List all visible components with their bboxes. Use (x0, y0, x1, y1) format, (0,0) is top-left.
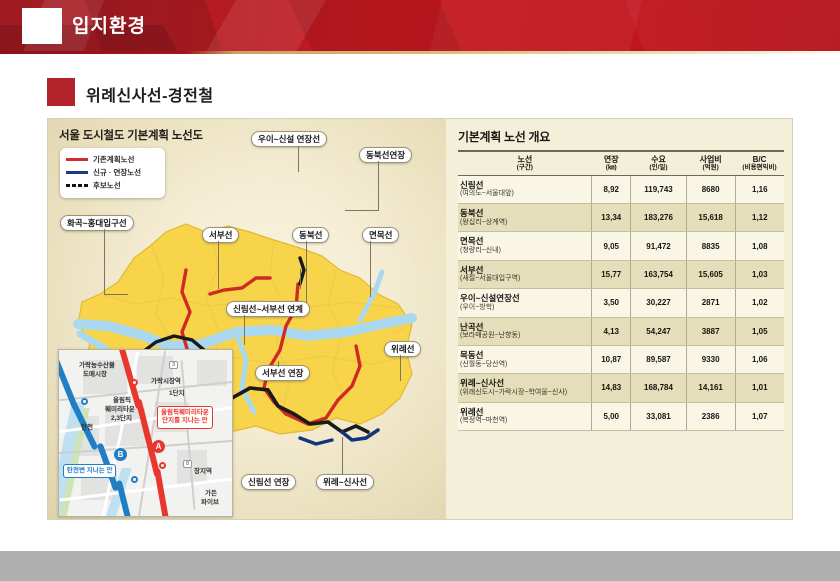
table-row: 동북선 (왕십리~상계역) 13,34 183,276 15,618 1,12 (458, 204, 784, 232)
routes-table-body: 신림선 (여의도~서울대앞) 8,92 119,743 8680 1,16 동북… (458, 175, 784, 430)
route-name: 난곡선 (460, 322, 589, 333)
map-callout-seobu-ext: 서부선 연장 (255, 365, 310, 381)
cell-demand: 54,247 (631, 317, 686, 345)
route-name: 동북선 (460, 208, 589, 219)
map-callout-sillim-seobu: 신림선~서부선 연계 (226, 301, 310, 317)
route-badge-3-icon: 3 (169, 361, 178, 369)
table-row: 위례~신사선 (위례신도시~가락시장~학여울~신사) 14,83 168,784… (458, 374, 784, 402)
cell-bc: 1,12 (735, 204, 784, 232)
red-square-icon (47, 78, 75, 106)
col-header-unit: (구간) (459, 164, 591, 171)
cell-demand: 91,472 (631, 232, 686, 260)
map-callout-dongbuk: 동북선 (292, 227, 329, 243)
leader-line (378, 161, 379, 211)
section-title: 위례신사선-경전철 (86, 82, 214, 106)
col-header-label: B/C (753, 155, 767, 164)
cell-length: 4,13 (592, 317, 631, 345)
inset-station-icon (81, 398, 88, 405)
cell-cost: 14,161 (686, 374, 735, 402)
leader-line (345, 210, 379, 211)
legend-swatch-icon (66, 158, 88, 161)
table-row: 서부선 (새절~서울대입구역) 15,77 163,754 15,605 1,0… (458, 260, 784, 288)
col-header-unit: (인/일) (632, 164, 685, 171)
banner-underline (0, 51, 840, 54)
route-name: 서부선 (460, 265, 589, 276)
route-section: (신월동~당산역) (460, 361, 589, 370)
footer-bar (0, 551, 840, 581)
route-section: (왕십리~상계역) (460, 219, 589, 228)
col-header-bc: B/C (비용편익비) (735, 151, 784, 175)
map-callout-hwagok: 화곡~홍대입구선 (60, 215, 134, 231)
cell-route-name: 면목선 (청량리~신내) (458, 232, 592, 260)
leader-line (298, 146, 299, 172)
leader-line (244, 315, 245, 345)
col-header-length: 연장 (㎞) (592, 151, 631, 175)
inset-station-icon (131, 379, 138, 386)
route-name: 목동선 (460, 350, 589, 361)
cell-length: 9,05 (592, 232, 631, 260)
route-section: (청량리~신내) (460, 247, 589, 256)
col-header-cost: 사업비 (억원) (686, 151, 735, 175)
inset-label-olympic3: 2,3단지 (111, 415, 132, 423)
inset-station-icon (159, 462, 166, 469)
route-name: 면목선 (460, 236, 589, 247)
table-header-row: 노선 (구간) 연장 (㎞) 수요 (인/일) 사업비 (458, 151, 784, 175)
leader-line (306, 241, 307, 307)
routes-table: 노선 (구간) 연장 (㎞) 수요 (인/일) 사업비 (458, 150, 784, 431)
cell-demand: 183,276 (631, 204, 686, 232)
cell-route-name: 위례~신사선 (위례신도시~가락시장~학여울~신사) (458, 374, 592, 402)
cell-demand: 33,081 (631, 402, 686, 430)
inset-label-danji1: 1단지 (169, 390, 185, 398)
route-name: 신림선 (460, 180, 589, 191)
cell-cost: 9330 (686, 345, 735, 373)
leader-line (104, 294, 128, 295)
cell-length: 8,92 (592, 175, 631, 203)
route-section: (보라매공원~난향동) (460, 332, 589, 341)
inset-callout-red: 올림픽훼미리타운 단지를 지나는 안 (157, 406, 213, 429)
map-callout-sillim-ext: 신림선 연장 (241, 474, 296, 490)
cell-length: 3,50 (592, 289, 631, 317)
route-name: 우이~신설연장선 (460, 293, 589, 304)
leader-line (400, 355, 401, 381)
cell-length: 13,34 (592, 204, 631, 232)
inset-label-tancheon: 탄천 (81, 424, 93, 432)
map-callout-wirye: 위례선 (384, 341, 421, 357)
leader-line (342, 437, 343, 475)
table-row: 목동선 (신월동~당산역) 10,87 89,587 9330 1,06 (458, 345, 784, 373)
inset-callout-blue: 탄천변 지나는 안 (63, 464, 116, 478)
route-badge-8-icon: 8 (183, 460, 192, 468)
inset-callout-red-line1: 올림픽훼미리타운 (161, 409, 209, 416)
leader-line (278, 361, 279, 367)
banner-facet (415, 0, 645, 53)
cell-cost: 3887 (686, 317, 735, 345)
inset-detail-map: A B 3 8 가락농수산물 도매시장 올림픽 훼미리타운 2,3단지 탄천 가… (58, 349, 233, 517)
cell-demand: 89,587 (631, 345, 686, 373)
cell-demand: 30,227 (631, 289, 686, 317)
route-name: 위례~신사선 (460, 378, 589, 389)
cell-route-name: 목동선 (신월동~당산역) (458, 345, 592, 373)
route-section: (새절~서울대입구역) (460, 275, 589, 284)
cell-bc: 1,07 (735, 402, 784, 430)
cell-route-name: 신림선 (여의도~서울대앞) (458, 175, 592, 203)
cell-cost: 2871 (686, 289, 735, 317)
map-callout-myeonmok: 면목선 (362, 227, 399, 243)
col-header-route: 노선 (구간) (458, 151, 592, 175)
table-row: 면목선 (청량리~신내) 9,05 91,472 8835 1,08 (458, 232, 784, 260)
cell-route-name: 서부선 (새절~서울대입구역) (458, 260, 592, 288)
route-section: (여의도~서울대앞) (460, 190, 589, 199)
route-section: (위례신도시~가락시장~학여울~신사) (460, 389, 589, 398)
cell-bc: 1,16 (735, 175, 784, 203)
cell-bc: 1,02 (735, 289, 784, 317)
header-banner: 입지환경 (0, 0, 840, 53)
table-row: 위례선 (복정역~마천역) 5,00 33,081 2386 1,07 (458, 402, 784, 430)
leader-line (104, 229, 105, 295)
cell-demand: 119,743 (631, 175, 686, 203)
table-row: 난곡선 (보라매공원~난향동) 4,13 54,247 3887 1,05 (458, 317, 784, 345)
cell-length: 14,83 (592, 374, 631, 402)
map-heading: 서울 도시철도 기본계획 노선도 (59, 127, 203, 143)
leader-line (300, 269, 301, 289)
cell-cost: 15,605 (686, 260, 735, 288)
map-callout-uisinseol: 우이~신설 연장선 (251, 131, 327, 147)
route-section: (우이~방학) (460, 304, 589, 313)
col-header-label: 수요 (651, 155, 666, 164)
col-header-unit: (㎞) (593, 164, 630, 171)
cell-route-name: 동북선 (왕십리~상계역) (458, 204, 592, 232)
page-title: 입지환경 (72, 11, 146, 38)
inset-label-nongsusan: 가락농수산물 (79, 362, 115, 370)
inset-label-garden2: 파이브 (201, 499, 219, 507)
cell-bc: 1,05 (735, 317, 784, 345)
map-callout-dongbuk-ext: 동북선연장 (359, 147, 412, 163)
cell-cost: 8835 (686, 232, 735, 260)
cell-cost: 15,618 (686, 204, 735, 232)
col-header-unit: (비용편익비) (736, 164, 783, 171)
map-callout-wirye-sinsa: 위례~신사선 (316, 474, 374, 490)
inset-label-garden1: 가든 (205, 490, 217, 498)
marker-b-icon: B (114, 448, 127, 461)
cell-demand: 163,754 (631, 260, 686, 288)
cell-route-name: 위례선 (복정역~마천역) (458, 402, 592, 430)
banner-facet (618, 0, 840, 53)
inset-label-nongsusan2: 도매시장 (83, 371, 107, 379)
cell-demand: 168,784 (631, 374, 686, 402)
table-row: 신림선 (여의도~서울대앞) 8,92 119,743 8680 1,16 (458, 175, 784, 203)
inset-label-garak-station: 가락시장역 (151, 378, 181, 386)
cell-length: 10,87 (592, 345, 631, 373)
cell-length: 5,00 (592, 402, 631, 430)
col-header-label: 노선 (517, 155, 532, 164)
route-name: 위례선 (460, 407, 589, 418)
inset-label-olympic1: 올림픽 (113, 397, 131, 405)
cell-bc: 1,01 (735, 374, 784, 402)
leader-line (370, 241, 371, 297)
col-header-label: 연장 (604, 155, 619, 164)
inset-label-jangji-station: 장지역 (194, 468, 212, 476)
marker-a-icon: A (152, 440, 165, 453)
legend-label: 기존계획노선 (93, 154, 134, 165)
inset-callout-red-line2: 단지를 지나는 안 (162, 417, 207, 424)
legend-item-existing: 기존계획노선 (66, 153, 159, 166)
cell-cost: 8680 (686, 175, 735, 203)
table-row: 우이~신설연장선 (우이~방학) 3,50 30,227 2871 1,02 (458, 289, 784, 317)
table-title: 기본계획 노선 개요 (458, 128, 784, 145)
inset-label-olympic2: 훼미리타운 (105, 406, 135, 414)
route-section: (복정역~마천역) (460, 417, 589, 426)
inset-station-icon (131, 476, 138, 483)
col-header-label: 사업비 (700, 155, 722, 164)
leader-line (218, 241, 219, 289)
cell-bc: 1,03 (735, 260, 784, 288)
col-header-demand: 수요 (인/일) (631, 151, 686, 175)
table-panel: 기본계획 노선 개요 노선 (구간) 연장 (㎞) 수요 (446, 119, 793, 520)
cell-cost: 2386 (686, 402, 735, 430)
white-square-icon (22, 8, 62, 44)
cell-route-name: 우이~신설연장선 (우이~방학) (458, 289, 592, 317)
content-card: 서울 도시철도 기본계획 노선도 기존계획노선 신규 · 연장노선 후보노선 (47, 118, 793, 520)
map-callout-seobu: 서부선 (202, 227, 239, 243)
cell-route-name: 난곡선 (보라매공원~난향동) (458, 317, 592, 345)
cell-bc: 1,08 (735, 232, 784, 260)
col-header-unit: (억원) (687, 164, 734, 171)
slide-page: 입지환경 위례신사선-경전철 서울 도시철도 기본계획 노선도 기존계획노선 신… (0, 0, 840, 581)
cell-length: 15,77 (592, 260, 631, 288)
cell-bc: 1,06 (735, 345, 784, 373)
map-panel: 서울 도시철도 기본계획 노선도 기존계획노선 신규 · 연장노선 후보노선 (48, 119, 446, 520)
